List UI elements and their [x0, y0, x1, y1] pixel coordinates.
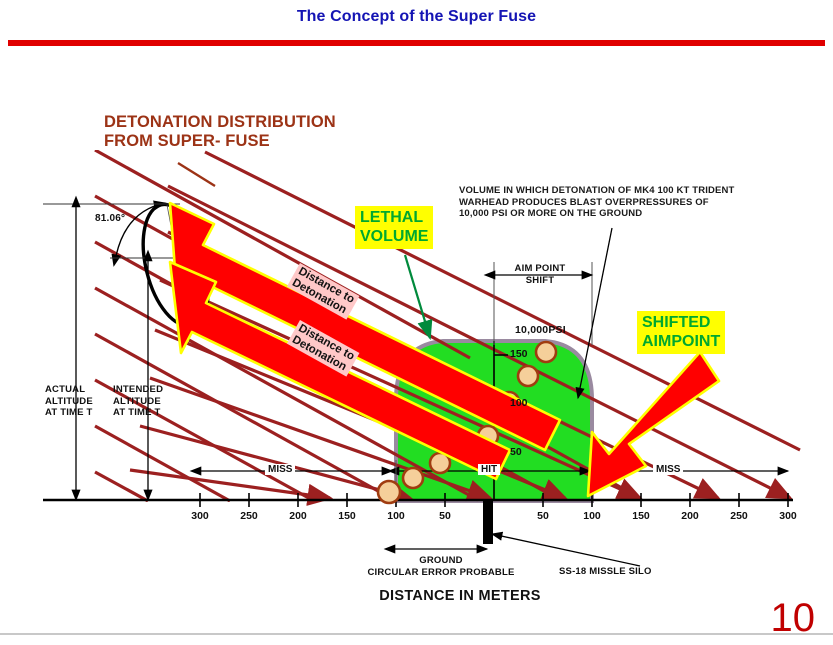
- detonation-dot: [518, 366, 538, 386]
- axis-tick-label: 200: [281, 510, 315, 522]
- axis-tick-label: 100: [379, 510, 413, 522]
- actual-altitude-label: ACTUAL ALTITUDE AT TIME T: [45, 384, 93, 419]
- slide-canvas: The Concept of the Super Fuse: [0, 0, 833, 645]
- axis-tick-label: 200: [673, 510, 707, 522]
- lethal-volume-callout: LETHAL VOLUME: [355, 206, 433, 249]
- detonation-distribution-label: DETONATION DISTRIBUTION FROM SUPER- FUSE: [104, 113, 336, 151]
- overpressure-label: 10,000PSI: [515, 325, 566, 337]
- contour-label: 50: [510, 446, 522, 458]
- contour-label: 100: [510, 397, 528, 409]
- volume-note-leader-line: [578, 228, 612, 398]
- detonation-dot: [536, 342, 556, 362]
- hit-label: HIT: [478, 464, 500, 475]
- miss-left-label: MISS: [265, 464, 295, 475]
- detonation-dot: [378, 481, 400, 503]
- axis-tick-label: 50: [526, 510, 560, 522]
- detonation-label-leader: [178, 163, 215, 186]
- intended-altitude-label: INTENDED ALTITUDE AT TIME T: [113, 384, 163, 419]
- axis-tick-label: 300: [183, 510, 217, 522]
- axis-tick-label: 50: [428, 510, 462, 522]
- axis-tick-label: 250: [722, 510, 756, 522]
- detonation-dot: [403, 468, 423, 488]
- footer-divider: [0, 633, 833, 635]
- trajectory-angle-label: 81.06°: [95, 213, 125, 225]
- shifted-aimpoint-callout: SHIFTED AIMPOINT: [637, 311, 725, 354]
- axis-tick-label: 100: [575, 510, 609, 522]
- axis-tick-label: 250: [232, 510, 266, 522]
- distance-axis-title: DISTANCE IN METERS: [340, 591, 580, 603]
- aim-point-shift-label: AIM POINT SHIFT: [495, 263, 585, 286]
- axis-tick-label: 150: [330, 510, 364, 522]
- silo-marker: [483, 500, 493, 544]
- axis-tick-label: 150: [624, 510, 658, 522]
- silo-label: SS-18 MISSLE SILO: [559, 566, 652, 578]
- contour-label: 150: [510, 348, 528, 360]
- axis-tick-label: 300: [771, 510, 805, 522]
- miss-right-label: MISS: [653, 464, 683, 475]
- cep-label: GROUND CIRCULAR ERROR PROBABLE: [352, 555, 530, 578]
- volume-description-note: VOLUME IN WHICH DETONATION OF MK4 100 KT…: [459, 185, 735, 220]
- page-number: 10: [771, 596, 816, 641]
